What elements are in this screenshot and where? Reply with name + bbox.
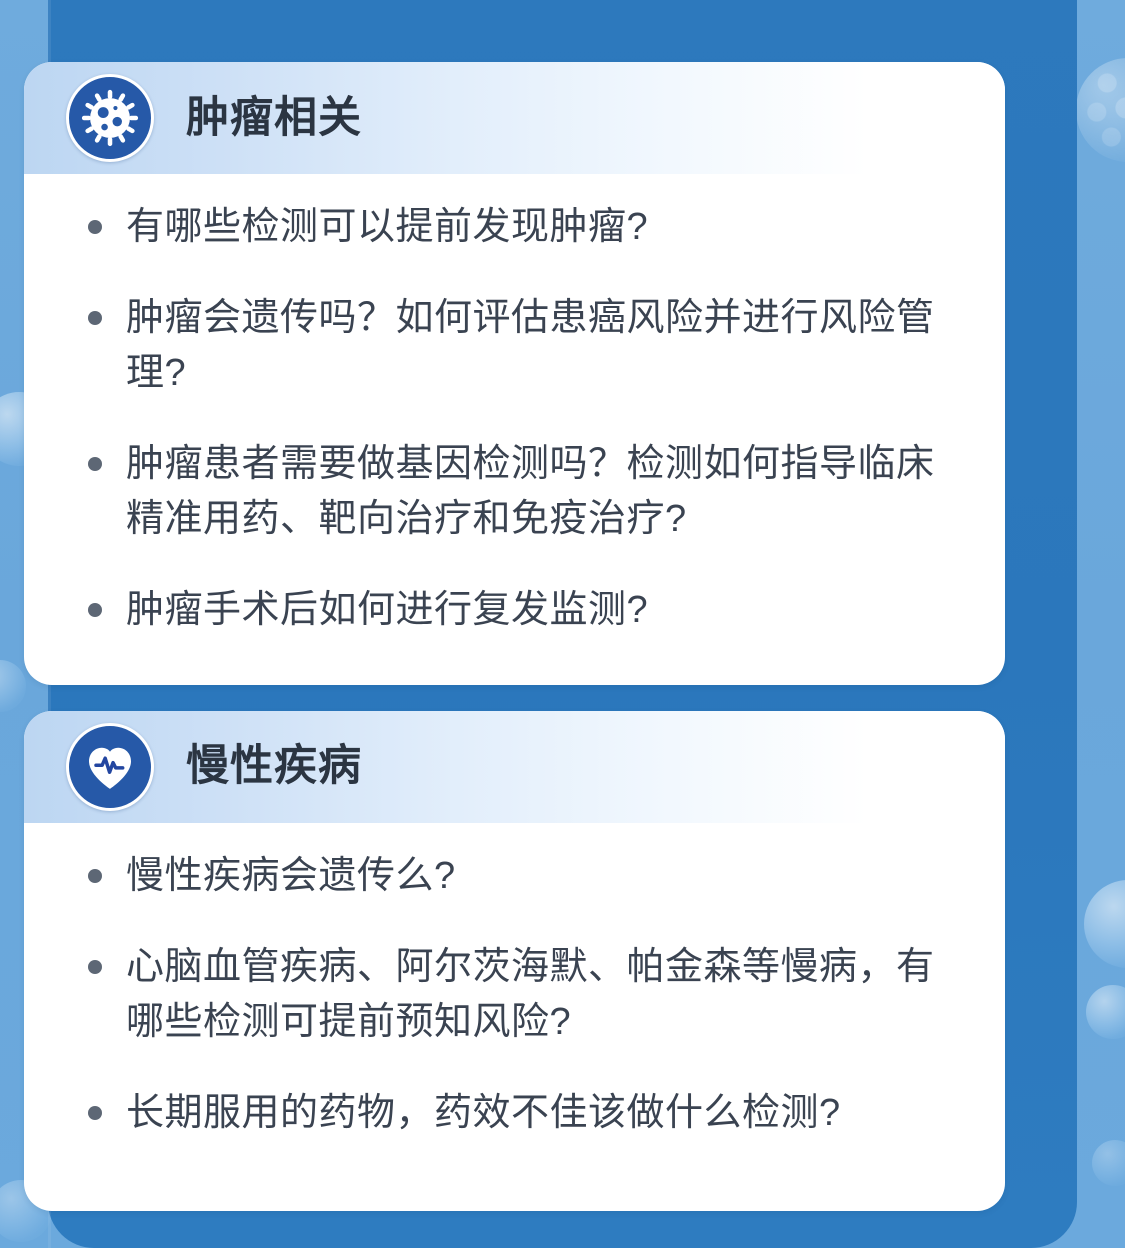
page-background: 肿瘤相关 有哪些检测可以提前发现肿瘤? 肿瘤会遗传吗？如何评估患癌风险并进行风险… [0, 0, 1125, 1248]
question-text: 长期服用的药物，药效不佳该做什么检测? [126, 1092, 841, 1134]
question-item[interactable]: 慢性疾病会遗传么? [70, 849, 959, 904]
question-item[interactable]: 心脑血管疾病、阿尔茨海默、帕金森等慢病，有哪些检测可提前预知风险? [70, 940, 959, 1050]
question-item[interactable]: 肿瘤会遗传吗？如何评估患癌风险并进行风险管理? [70, 291, 959, 401]
question-item[interactable]: 有哪些检测可以提前发现肿瘤? [70, 200, 959, 255]
card-header: 肿瘤相关 [24, 62, 1005, 174]
question-item[interactable]: 肿瘤手术后如何进行复发监测? [70, 583, 959, 638]
card-tumor[interactable]: 肿瘤相关 有哪些检测可以提前发现肿瘤? 肿瘤会遗传吗？如何评估患癌风险并进行风险… [24, 62, 1005, 685]
bullet-icon [88, 869, 102, 883]
virus-icon [66, 74, 154, 162]
question-text: 肿瘤手术后如何进行复发监测? [126, 589, 648, 631]
question-text: 有哪些检测可以提前发现肿瘤? [126, 206, 648, 248]
question-item[interactable]: 长期服用的药物，药效不佳该做什么检测? [70, 1086, 959, 1141]
bullet-icon [88, 960, 102, 974]
question-item[interactable]: 肿瘤患者需要做基因检测吗？检测如何指导临床精准用药、靶向治疗和免疫治疗? [70, 437, 959, 547]
question-list: 慢性疾病会遗传么? 心脑血管疾病、阿尔茨海默、帕金森等慢病，有哪些检测可提前预知… [70, 849, 959, 1141]
question-text: 慢性疾病会遗传么? [126, 855, 456, 897]
question-text: 肿瘤患者需要做基因检测吗？检测如何指导临床精准用药、靶向治疗和免疫治疗? [126, 443, 935, 540]
bullet-icon [88, 457, 102, 471]
card-body: 有哪些检测可以提前发现肿瘤? 肿瘤会遗传吗？如何评估患癌风险并进行风险管理? 肿… [24, 174, 1005, 685]
bullet-icon [88, 220, 102, 234]
question-list: 有哪些检测可以提前发现肿瘤? 肿瘤会遗传吗？如何评估患癌风险并进行风险管理? 肿… [70, 200, 959, 639]
card-title: 肿瘤相关 [186, 97, 362, 140]
bullet-icon [88, 311, 102, 325]
bullet-icon [88, 603, 102, 617]
card-header: 慢性疾病 [24, 711, 1005, 823]
cell-sphere-decoration [1076, 58, 1125, 162]
card-chronic-disease[interactable]: 慢性疾病 慢性疾病会遗传么? 心脑血管疾病、阿尔茨海默、帕金森等慢病，有哪些检测… [24, 711, 1005, 1211]
question-text: 肿瘤会遗传吗？如何评估患癌风险并进行风险管理? [126, 297, 935, 394]
card-title: 慢性疾病 [186, 745, 362, 788]
card-list: 肿瘤相关 有哪些检测可以提前发现肿瘤? 肿瘤会遗传吗？如何评估患癌风险并进行风险… [24, 62, 1005, 1211]
bubble-decoration [1092, 1140, 1125, 1186]
bubble-decoration [1084, 880, 1125, 968]
bubble-decoration [1086, 985, 1125, 1039]
bullet-icon [88, 1106, 102, 1120]
question-text: 心脑血管疾病、阿尔茨海默、帕金森等慢病，有哪些检测可提前预知风险? [126, 946, 935, 1043]
bubble-decoration [0, 660, 26, 712]
heart-pulse-icon [66, 723, 154, 811]
card-body: 慢性疾病会遗传么? 心脑血管疾病、阿尔茨海默、帕金森等慢病，有哪些检测可提前预知… [24, 823, 1005, 1211]
